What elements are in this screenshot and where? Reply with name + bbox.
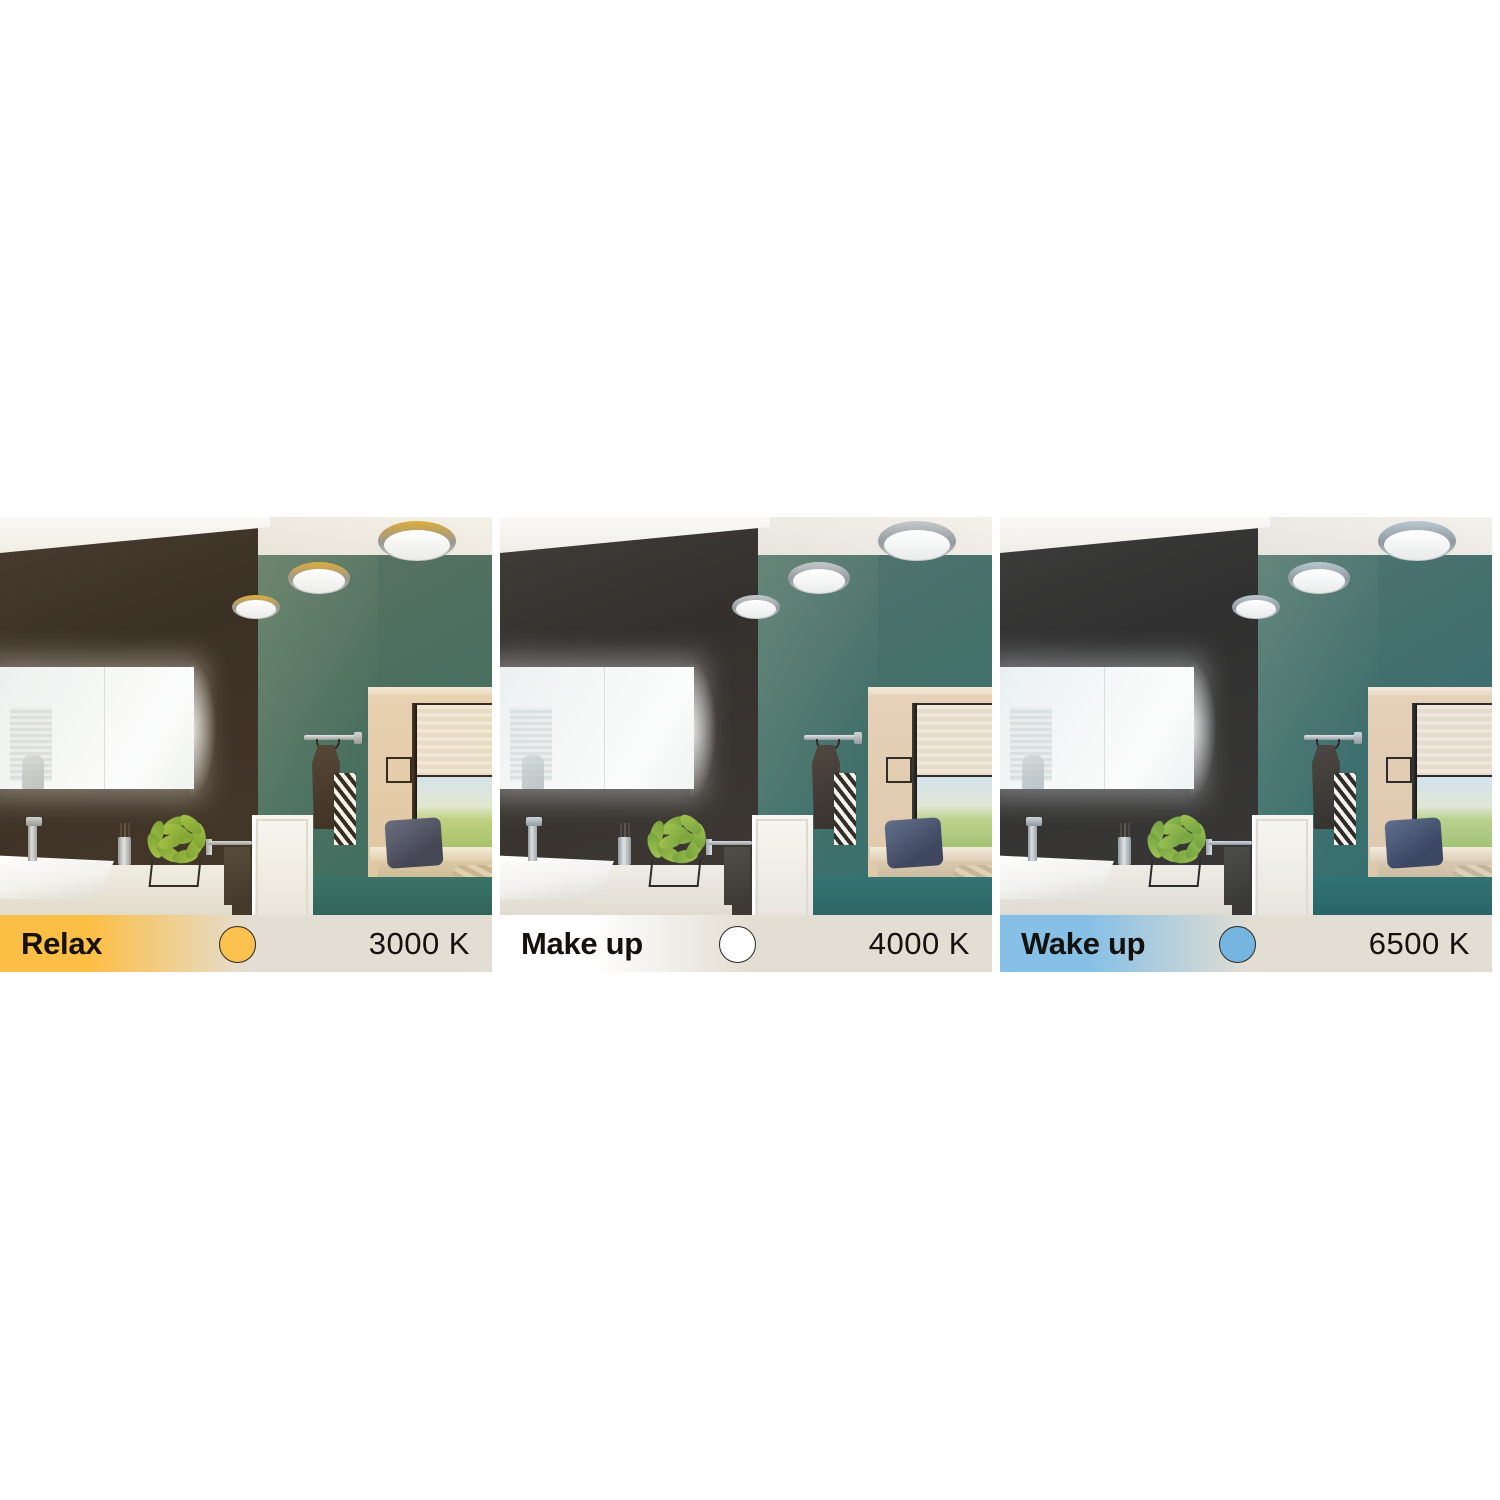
- light-temperature-tint: [1000, 517, 1492, 915]
- bathroom-scene: [1000, 517, 1492, 915]
- color-temperature-swatch: [1219, 926, 1256, 963]
- scene-panel-relax[interactable]: Relax 3000 K: [0, 517, 492, 972]
- bathroom-scene: [500, 517, 992, 915]
- kelvin-value: 4000 K: [869, 926, 970, 962]
- color-temperature-swatch: [219, 926, 256, 963]
- color-temperature-swatch: [719, 926, 756, 963]
- scene-label-bar-make-up: Make up 4000 K: [500, 915, 992, 972]
- bathroom-scene: [0, 517, 492, 915]
- comparison-strip: Relax 3000 K: [0, 517, 1500, 972]
- scene-name-label: Wake up: [1021, 926, 1145, 962]
- light-temperature-tint: [500, 517, 992, 915]
- scene-name-label: Relax: [21, 926, 102, 962]
- kelvin-value: 3000 K: [369, 926, 470, 962]
- scene-panel-make-up[interactable]: Make up 4000 K: [500, 517, 992, 972]
- scene-panel-wake-up[interactable]: Wake up 6500 K: [1000, 517, 1492, 972]
- kelvin-value: 6500 K: [1369, 926, 1470, 962]
- scene-label-bar-relax: Relax 3000 K: [0, 915, 492, 972]
- light-temperature-tint: [0, 517, 492, 915]
- scene-name-label: Make up: [521, 926, 643, 962]
- scene-label-bar-wake-up: Wake up 6500 K: [1000, 915, 1492, 972]
